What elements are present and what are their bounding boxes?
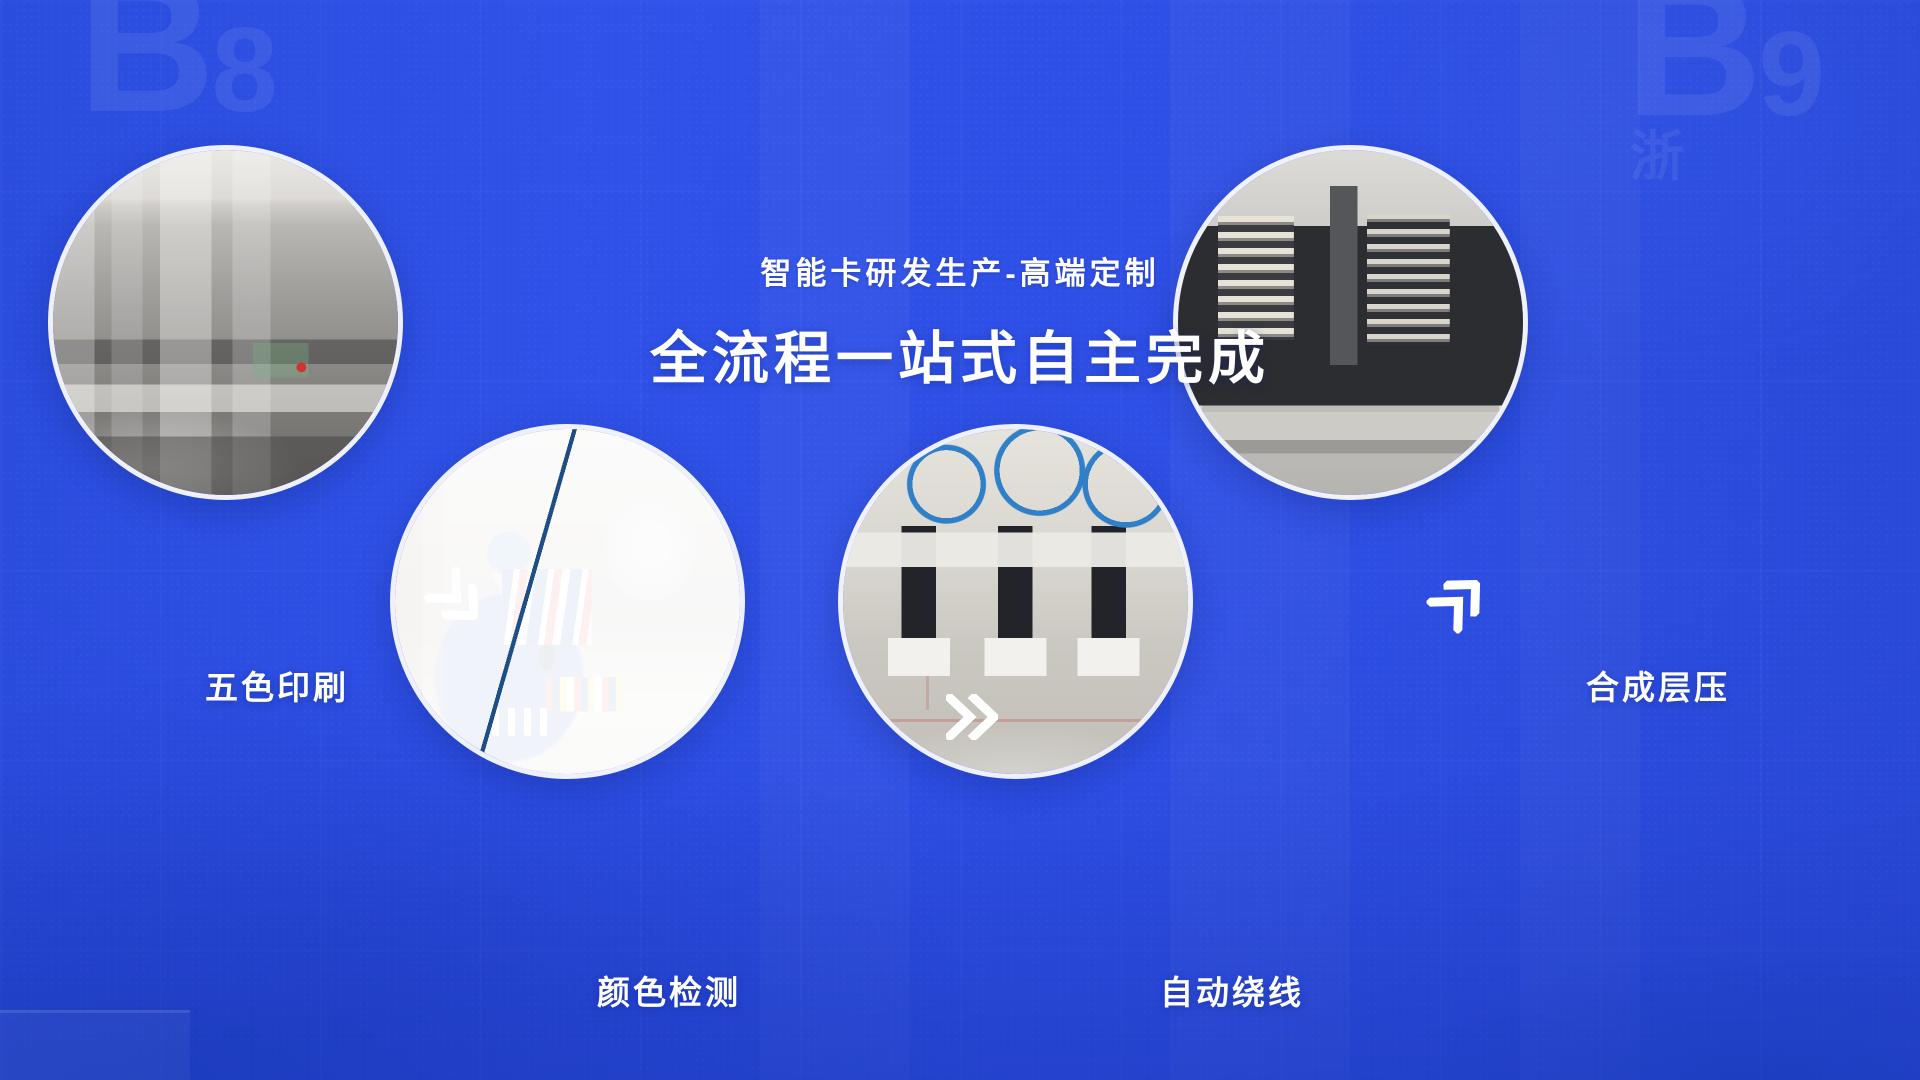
background-foliage [0, 780, 1920, 1080]
watermark-side-text: 浙 [1630, 135, 1684, 181]
photo-five-color-printing [53, 150, 398, 495]
photo-lamination [1178, 150, 1523, 495]
step-circle-coil-winding[interactable] [838, 424, 1193, 779]
chevron-double-right-icon-2 [946, 694, 998, 740]
step-label-color-inspection: 颜色检测 [597, 966, 741, 1014]
background-road [0, 1010, 190, 1080]
step-circle-lamination[interactable] [1173, 145, 1528, 500]
step-label-printing: 五色印刷 [205, 661, 349, 709]
photo-coil-winding [843, 429, 1188, 774]
watermark-b8-letter: B [78, 0, 211, 152]
watermark-b8-number: 8 [211, 3, 274, 137]
watermark-b9: B9 [1625, 0, 1821, 132]
step-label-lamination: 合成层压 [1586, 661, 1730, 709]
step-label-coil-winding: 自动绕线 [1160, 966, 1304, 1014]
step-circle-printing[interactable] [48, 145, 403, 500]
watermark-b8: B8 [78, 0, 274, 128]
watermark-b9-number: 9 [1758, 7, 1821, 141]
